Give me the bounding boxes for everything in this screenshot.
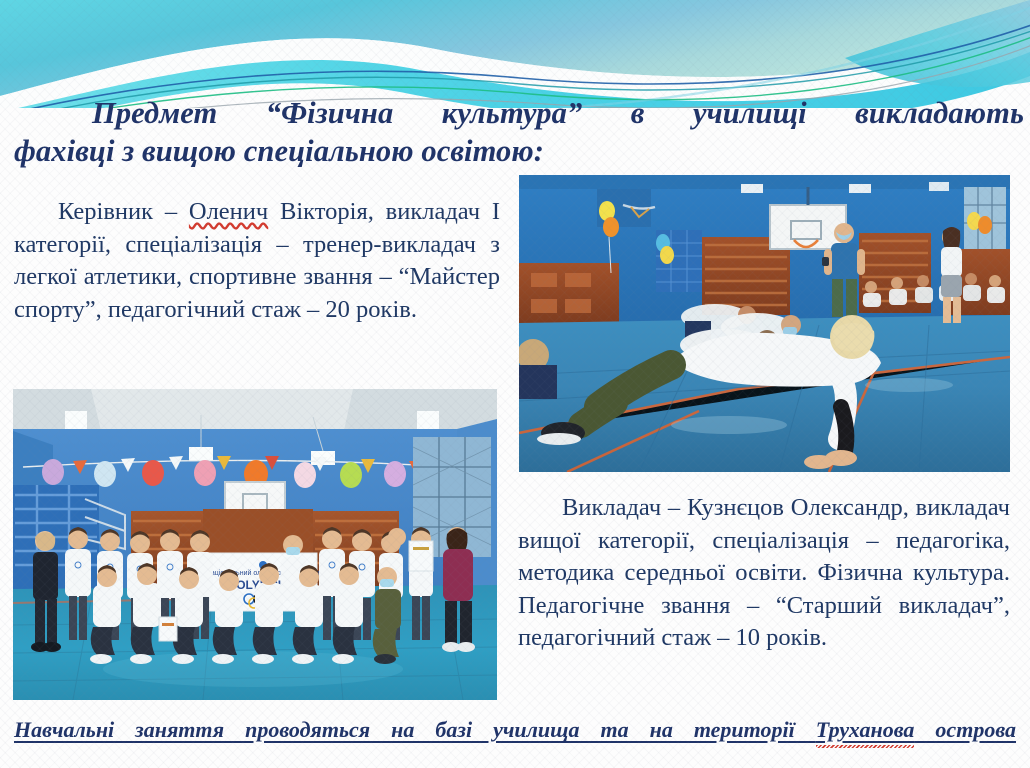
gym-pushups-photo (519, 175, 1010, 472)
header-wave-graphic (0, 0, 1030, 108)
presentation-slide: Предмет “Фізична культура” в училищі вик… (0, 0, 1030, 768)
spellcheck-word-olenych: Оленич (189, 198, 268, 225)
paragraph-teacher-olenych: Керівник – Оленич Вікторія, викладач І к… (14, 196, 500, 326)
slide-title: Предмет “Фізична культура” в училищі вик… (0, 94, 1030, 170)
spellcheck-word-trukhanova: Труханова (816, 717, 915, 742)
slide-title-line-1: Предмет “Фізична культура” в училищі вик… (14, 94, 1024, 132)
gym-group-photo: Національний олімпійський комітет OLYMPI… (13, 389, 497, 700)
slide-footer-note: Навчальні заняття проводяться на базі уч… (14, 716, 1016, 744)
paragraph-left-prefix: Керівник – (58, 198, 189, 225)
footer-suffix: острова (914, 717, 1016, 742)
footer-prefix: Навчальні заняття проводяться на базі уч… (14, 717, 816, 742)
paragraph-teacher-kuznietsov: Викладач – Кузнєцов Олександр, викладач … (518, 492, 1010, 655)
slide-title-line-2: фахівці з вищою спеціальною освітою: (14, 132, 1024, 170)
